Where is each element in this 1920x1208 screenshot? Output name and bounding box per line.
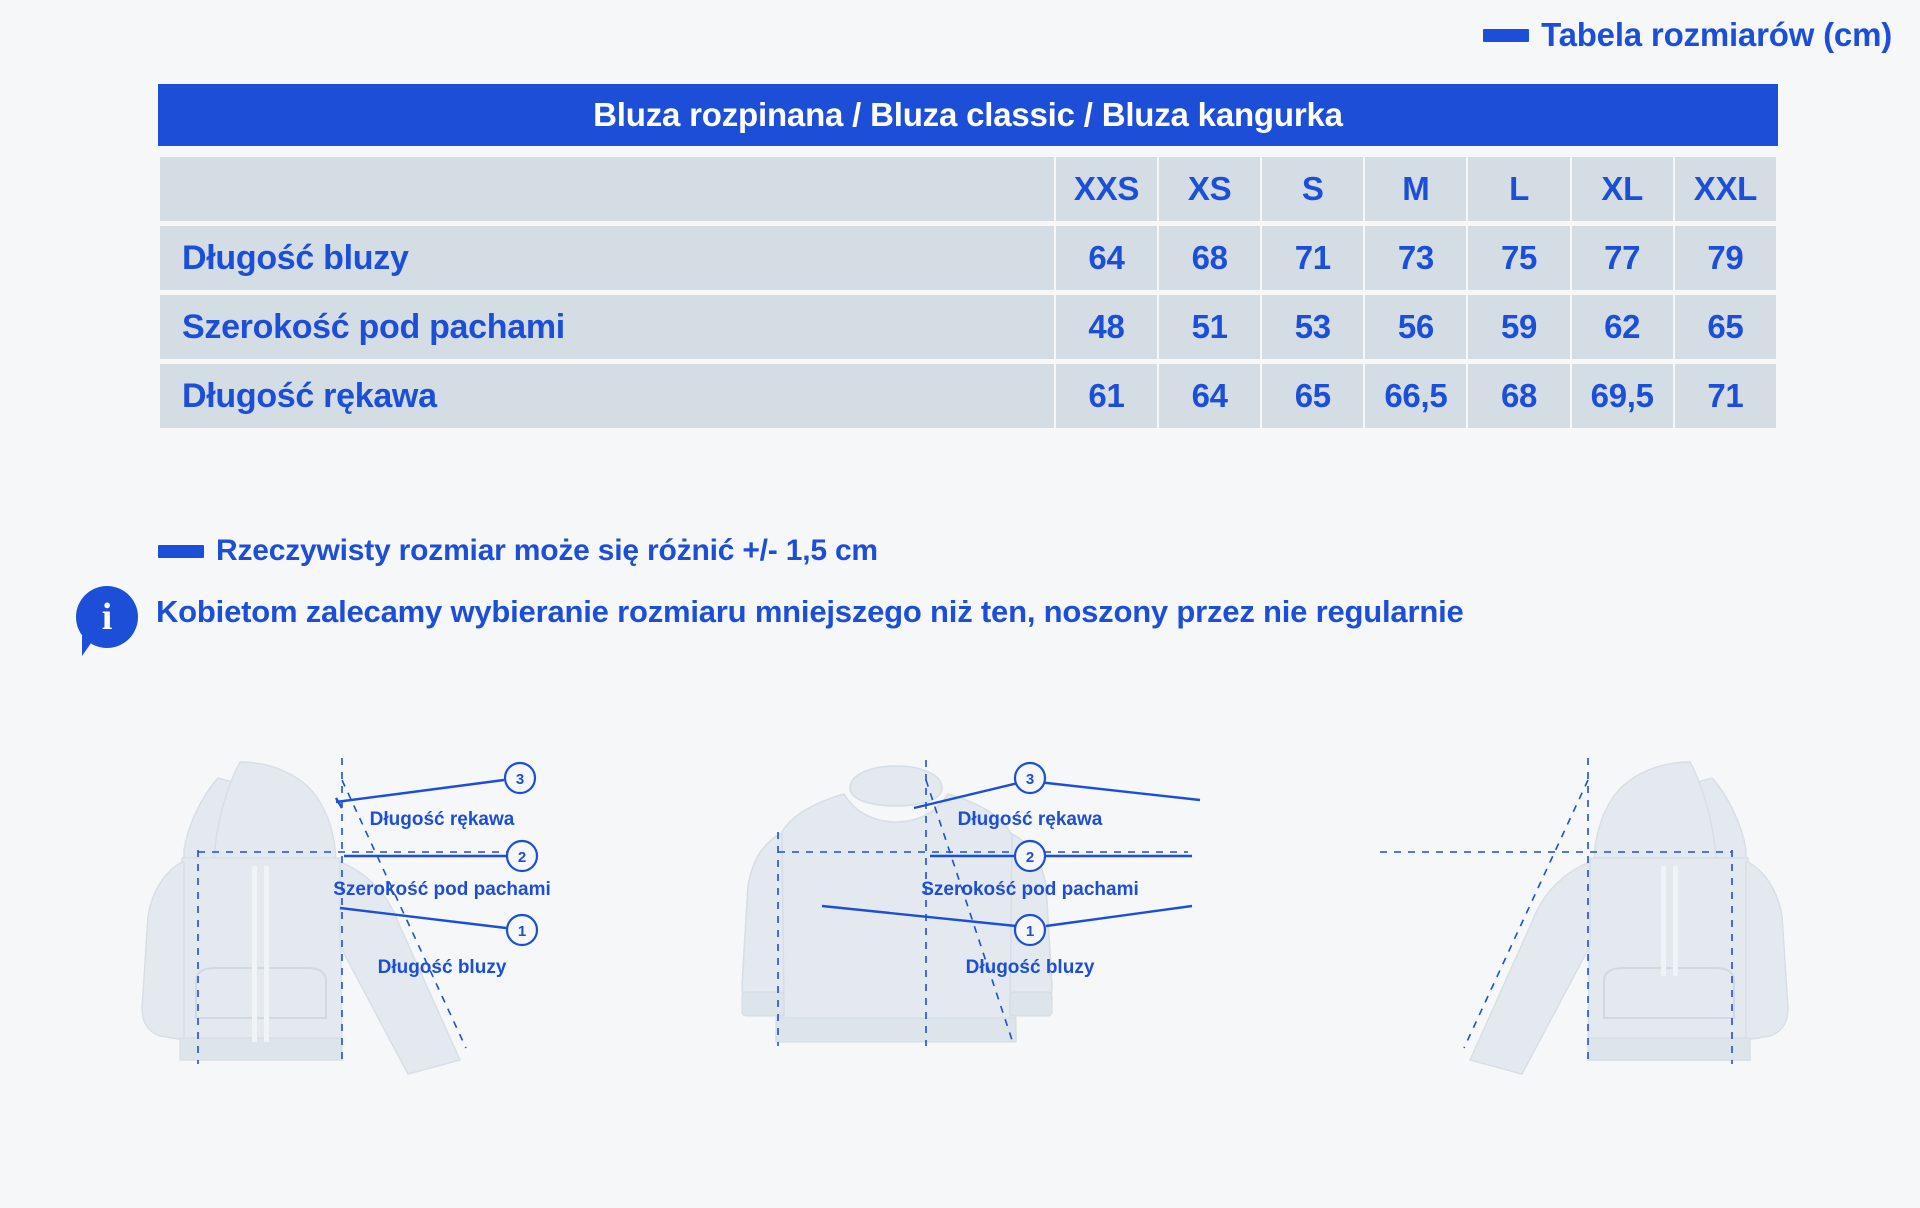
- diagram-zip-hoodie: 3 Długość rękawa 2 Szerokość pod pachami…: [140, 740, 760, 1208]
- info-icon: i: [76, 586, 138, 658]
- cell-chest-m: 56: [1365, 295, 1466, 359]
- cell-length-m: 73: [1365, 226, 1466, 290]
- callout-number-3: 3: [1026, 771, 1034, 788]
- callout-sleeve-length: 3 Długość rękawa: [914, 763, 1200, 830]
- diagram-pullover-hoodie: [1370, 740, 1790, 1208]
- callout-label-sleeve: Długość rękawa: [370, 809, 515, 830]
- callout-number-2: 2: [518, 849, 526, 866]
- info-icon-glyph: i: [76, 586, 138, 648]
- cell-length-xxl: 79: [1675, 226, 1776, 290]
- callout-number-1: 1: [518, 923, 526, 940]
- size-header-s: S: [1262, 157, 1363, 221]
- callout-number-2: 2: [1026, 849, 1034, 866]
- variance-note-label: Rzeczywisty rozmiar może się różnić +/- …: [216, 534, 878, 568]
- size-header-xxl: XXL: [1675, 157, 1776, 221]
- size-table-caption-label: Tabela rozmiarów (cm): [1541, 16, 1892, 54]
- row-label-length: Długość bluzy: [160, 226, 1054, 290]
- dash-marker-icon: [158, 545, 204, 558]
- cell-chest-xxs: 48: [1056, 295, 1157, 359]
- size-table-caption: Tabela rozmiarów (cm): [1483, 16, 1892, 54]
- size-header-xl: XL: [1572, 157, 1673, 221]
- cell-sleeve-xxs: 61: [1056, 364, 1157, 428]
- cell-sleeve-xxl: 71: [1675, 364, 1776, 428]
- callout-label-length: Długość bluzy: [966, 957, 1095, 978]
- table-row: Szerokość pod pachami 48 51 53 56 59 62 …: [160, 295, 1776, 359]
- row-label-sleeve: Długość rękawa: [160, 364, 1054, 428]
- size-table-title: Bluza rozpinana / Bluza classic / Bluza …: [158, 84, 1778, 146]
- size-header-m: M: [1365, 157, 1466, 221]
- cell-length-xxs: 64: [1056, 226, 1157, 290]
- crewneck-illustration: [742, 766, 1052, 1042]
- cell-length-xl: 77: [1572, 226, 1673, 290]
- cell-sleeve-s: 65: [1262, 364, 1363, 428]
- cell-sleeve-xs: 64: [1159, 364, 1260, 428]
- cell-chest-l: 59: [1468, 295, 1569, 359]
- row-label-chest: Szerokość pod pachami: [160, 295, 1054, 359]
- size-header-l: L: [1468, 157, 1569, 221]
- pullover-hoodie-illustration: [1470, 762, 1788, 1074]
- size-table-header-row: XXS XS S M L XL XXL: [160, 157, 1776, 221]
- callout-number-3: 3: [516, 771, 524, 788]
- table-row: Długość rękawa 61 64 65 66,5 68 69,5 71: [160, 364, 1776, 428]
- variance-note: Rzeczywisty rozmiar może się różnić +/- …: [158, 534, 878, 568]
- callout-label-sleeve: Długość rękawa: [958, 809, 1103, 830]
- size-header-xxs: XXS: [1056, 157, 1157, 221]
- size-table-corner-cell: [160, 157, 1054, 221]
- table-row: Długość bluzy 64 68 71 73 75 77 79: [160, 226, 1776, 290]
- cell-sleeve-l: 68: [1468, 364, 1569, 428]
- callout-label-chest: Szerokość pod pachami: [333, 879, 551, 900]
- info-note-label: Kobietom zalecamy wybieranie rozmiaru mn…: [156, 594, 1464, 630]
- size-header-xs: XS: [1159, 157, 1260, 221]
- cell-chest-xl: 62: [1572, 295, 1673, 359]
- dash-marker-icon: [1483, 29, 1529, 42]
- size-chart-page: Tabela rozmiarów (cm) Bluza rozpinana / …: [0, 0, 1920, 1208]
- cell-chest-xs: 51: [1159, 295, 1260, 359]
- callout-number-1: 1: [1026, 923, 1034, 940]
- cell-length-l: 75: [1468, 226, 1569, 290]
- info-note: i Kobietom zalecamy wybieranie rozmiaru …: [76, 586, 1464, 658]
- callout-sleeve-length: 3 Długość rękawa: [336, 763, 535, 830]
- cell-chest-s: 53: [1262, 295, 1363, 359]
- cell-sleeve-xl: 69,5: [1572, 364, 1673, 428]
- cell-length-xs: 68: [1159, 226, 1260, 290]
- diagram-crewneck-sweatshirt: 3 Długość rękawa 2 Szerokość pod pachami…: [740, 740, 1480, 1208]
- size-table: XXS XS S M L XL XXL Długość bluzy 64 68 …: [158, 152, 1778, 433]
- cell-chest-xxl: 65: [1675, 295, 1776, 359]
- cell-sleeve-m: 66,5: [1365, 364, 1466, 428]
- cell-length-s: 71: [1262, 226, 1363, 290]
- callout-label-length: Długość bluzy: [378, 957, 507, 978]
- callout-label-chest: Szerokość pod pachami: [921, 879, 1139, 900]
- garment-diagrams: 3 Długość rękawa 2 Szerokość pod pachami…: [0, 740, 1920, 1208]
- size-table-container: Bluza rozpinana / Bluza classic / Bluza …: [158, 84, 1778, 433]
- callout-chest-width: 2 Szerokość pod pachami: [333, 841, 551, 900]
